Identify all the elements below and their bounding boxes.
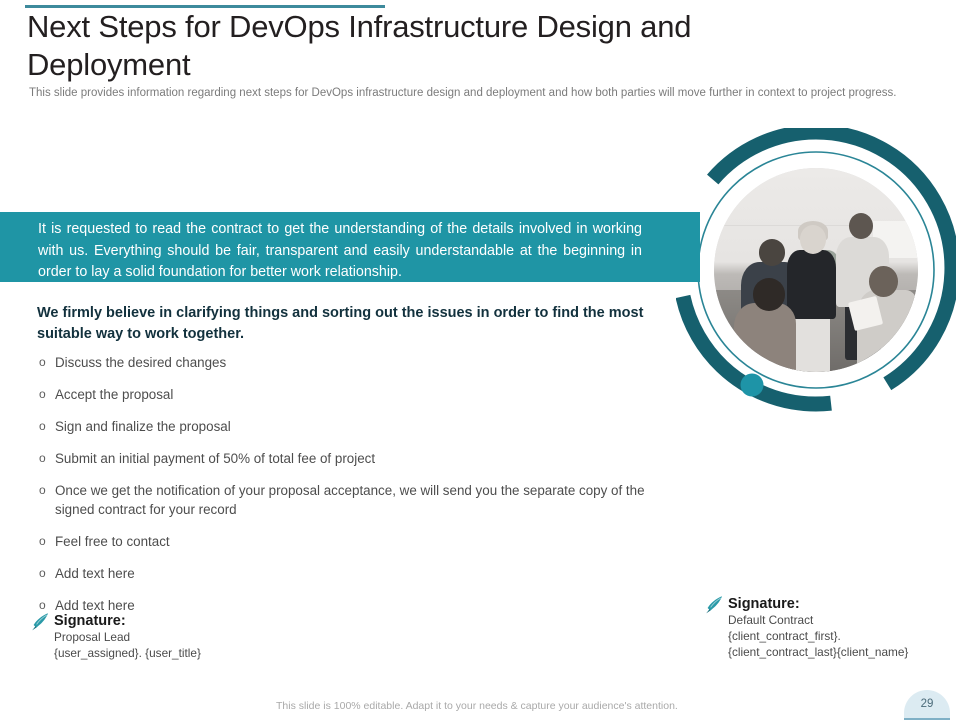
lead-statement: We firmly believe in clarifying things a… xyxy=(37,303,669,344)
signature-role: Proposal Lead xyxy=(54,630,201,646)
statement-banner-text: It is requested to read the contract to … xyxy=(38,219,642,284)
list-item-label: Add text here xyxy=(55,564,135,583)
list-item: o Discuss the desired changes xyxy=(39,353,659,372)
signature-placeholder-last: {client_contract_last}{client_name} xyxy=(728,645,908,661)
list-item: o Submit an initial payment of 50% of to… xyxy=(39,449,659,468)
signature-block-left: Signature: Proposal Lead {user_assigned}… xyxy=(28,612,201,662)
bullet-marker-icon: o xyxy=(39,481,55,499)
list-item: o Accept the proposal xyxy=(39,385,659,404)
bullet-marker-icon: o xyxy=(39,449,55,467)
list-item-label: Accept the proposal xyxy=(55,385,173,404)
list-item-label: Feel free to contact xyxy=(55,532,170,551)
list-item-label: Submit an initial payment of 50% of tota… xyxy=(55,449,375,468)
footer-note: This slide is 100% editable. Adapt it to… xyxy=(276,700,678,712)
signature-placeholder: {user_assigned}. {user_title} xyxy=(54,646,201,662)
bullet-marker-icon: o xyxy=(39,532,55,550)
list-item-label: Discuss the desired changes xyxy=(55,353,226,372)
signature-placeholder-first: {client_contract_first}. xyxy=(728,629,908,645)
list-item-label: Sign and finalize the proposal xyxy=(55,417,231,436)
team-meeting-photo xyxy=(714,168,918,372)
accent-dot xyxy=(741,374,764,397)
list-item-label: Once we get the notification of your pro… xyxy=(55,481,659,520)
quill-pen-icon xyxy=(28,610,52,634)
bullet-marker-icon: o xyxy=(39,353,55,371)
bullet-marker-icon: o xyxy=(39,385,55,403)
bullet-marker-icon: o xyxy=(39,417,55,435)
signature-label: Signature: xyxy=(728,595,908,613)
list-item: o Sign and finalize the proposal xyxy=(39,417,659,436)
page-subtitle: This slide provides information regardin… xyxy=(29,85,919,102)
page-title: Next Steps for DevOps Infrastructure Des… xyxy=(27,8,747,84)
bullet-marker-icon: o xyxy=(39,564,55,582)
signature-block-right: Signature: Default Contract {client_cont… xyxy=(702,595,908,660)
signature-role: Default Contract xyxy=(728,613,908,629)
page-number-label: 29 xyxy=(921,698,934,710)
quill-pen-icon xyxy=(702,593,726,617)
list-item: o Once we get the notification of your p… xyxy=(39,481,659,520)
page-number-badge: 29 xyxy=(904,690,950,720)
signature-label: Signature: xyxy=(54,612,201,630)
list-item: o Feel free to contact xyxy=(39,532,659,551)
team-meeting-circular-graphic xyxy=(676,128,956,413)
next-steps-list: o Discuss the desired changes o Accept t… xyxy=(39,353,659,628)
list-item: o Add text here xyxy=(39,564,659,583)
slide-canvas: Next Steps for DevOps Infrastructure Des… xyxy=(0,0,960,720)
